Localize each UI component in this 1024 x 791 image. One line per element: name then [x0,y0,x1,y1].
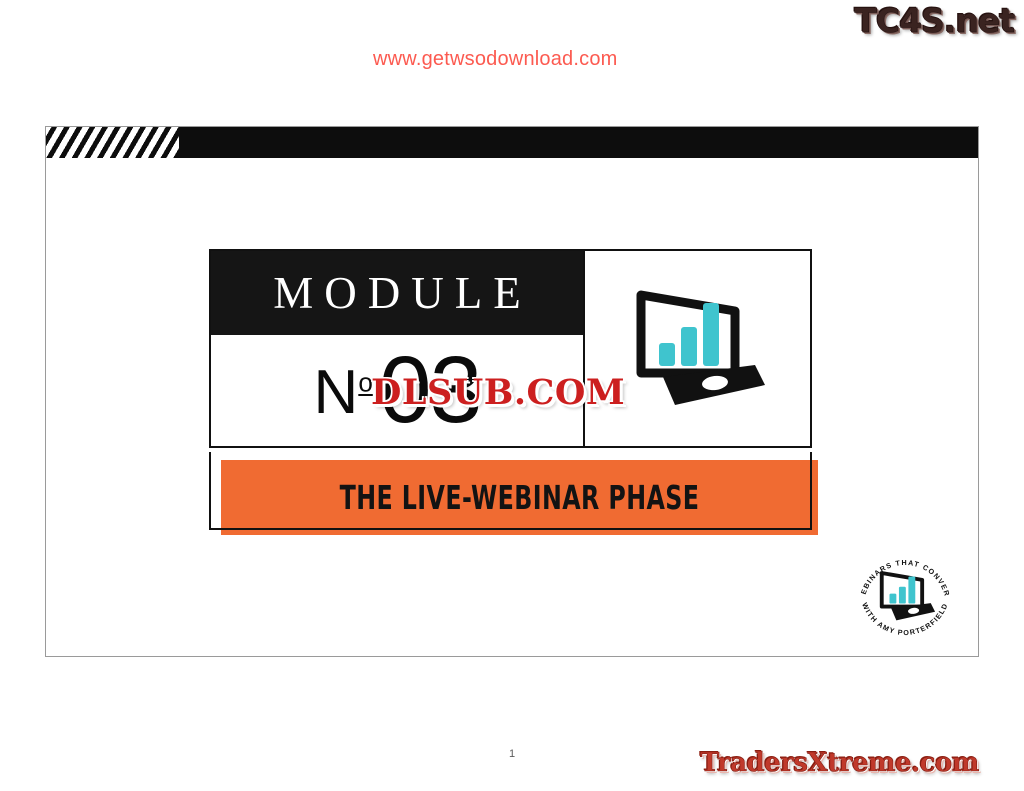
module-composite: MODULE No 03 [209,249,819,579]
module-box: MODULE No 03 [209,249,812,448]
slide-header-bar [46,127,978,158]
presentation-slide: MODULE No 03 [45,126,979,657]
watermark-getwsodownload: www.getwsodownload.com [373,48,618,71]
page-number: 1 [0,748,1024,760]
module-left-panel: MODULE No 03 [211,251,585,446]
module-title-band: MODULE [211,251,583,335]
banner-title: THE LIVE-WEBINAR PHASE [281,460,759,535]
watermark-dlsub: DLSUB.COM [371,372,625,413]
webinars-that-convert-badge: WEBINARS THAT CONVERT WITH AMY PORTERFIE… [846,535,964,645]
module-label: MODULE [262,267,531,319]
diagonal-stripes-decoration [46,127,179,158]
module-right-panel [585,251,810,446]
badge-laptop-icon [882,573,935,620]
module-number-prefix: No [314,362,373,424]
watermark-tc4s: TC4S.net [854,1,1014,40]
slide-page: TC4S.net www.getwsodownload.com TradersX… [0,0,1024,791]
laptop-bar-chart-icon [623,281,773,416]
